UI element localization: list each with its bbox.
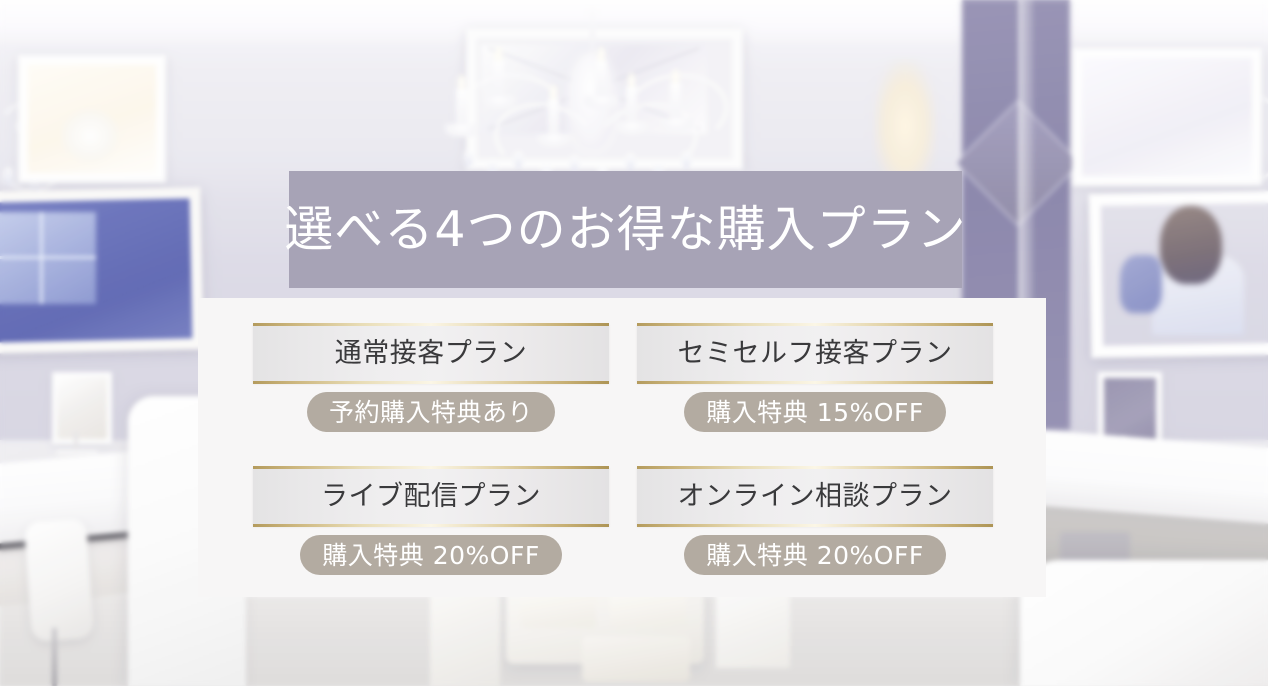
plan-title: セミセルフ接客プラン <box>678 340 953 367</box>
monitor-right-figure-arm <box>1120 255 1162 313</box>
plan-title: オンライン相談プラン <box>678 483 953 510</box>
promo-screen: 選べる4つのお得な購入プラン 通常接客プラン 予約購入特典あり セミセルフ接客プ… <box>0 0 1268 686</box>
chandelier-crystal <box>682 152 691 169</box>
chandelier-crystal <box>626 154 635 171</box>
plan-benefit-badge: 購入特典 20%OFF <box>684 535 945 575</box>
plan-card-semi-self[interactable]: セミセルフ接客プラン 購入特典 15%OFF <box>637 324 993 432</box>
chandelier-flame <box>597 46 606 61</box>
chandelier-cup <box>537 134 571 147</box>
plan-benefit-badge: 予約購入特典あり <box>307 392 555 432</box>
center-chair-left <box>430 588 500 686</box>
plan-badge-row: 購入特典 20%OFF <box>637 535 993 575</box>
plan-badge-row: 購入特典 20%OFF <box>253 535 609 575</box>
chandelier-flame <box>494 46 503 61</box>
plan-card-online-consult[interactable]: オンライン相談プラン 購入特典 20%OFF <box>637 467 993 575</box>
plan-header-semi-self: セミセルフ接客プラン <box>637 324 993 383</box>
center-stool <box>582 636 690 682</box>
chandelier <box>430 0 760 185</box>
chandelier-crystal <box>464 150 473 167</box>
monitor-right-figure-hair <box>1160 206 1222 284</box>
table-mirror-left <box>52 372 112 444</box>
chandelier-flame <box>627 72 636 87</box>
plan-header-live-stream: ライブ配信プラン <box>253 467 609 526</box>
framed-mirror-top-right <box>1072 48 1262 186</box>
plan-badge-row: 購入特典 15%OFF <box>637 392 993 432</box>
chandelier-crystal <box>514 152 523 169</box>
framed-picture-highlight <box>62 110 118 162</box>
plan-benefit-badge: 購入特典 15%OFF <box>684 392 945 432</box>
chandelier-cup <box>659 118 693 131</box>
chandelier-candle <box>493 60 504 100</box>
chandelier-cup <box>585 96 619 109</box>
monitor-left-mullion <box>0 256 96 259</box>
chandelier-rod <box>590 0 595 62</box>
chandelier-candle <box>456 88 467 128</box>
plan-title: 通常接客プラン <box>335 340 528 367</box>
chandelier-candle <box>670 82 681 122</box>
plans-panel: 通常接客プラン 予約購入特典あり セミセルフ接客プラン 購入特典 15%OFF … <box>198 298 1046 597</box>
salon-chair-right <box>1020 560 1268 686</box>
plan-header-online-consult: オンライン相談プラン <box>637 467 993 526</box>
plan-badge-row: 予約購入特典あり <box>253 392 609 432</box>
plan-title: ライブ配信プラン <box>321 483 541 510</box>
headline-text: 選べる4つのお得な購入プラン <box>284 205 966 254</box>
plan-header-standard: 通常接客プラン <box>253 324 609 383</box>
chandelier-candle <box>596 60 607 100</box>
salon-chair-left-leg <box>52 628 57 686</box>
chandelier-cup <box>482 96 516 109</box>
niche-lamp-glow <box>874 60 936 180</box>
chandelier-flame <box>457 74 466 89</box>
chandelier-cup <box>615 122 649 135</box>
chandelier-candle <box>626 86 637 126</box>
plan-benefit-badge: 購入特典 20%OFF <box>300 535 561 575</box>
plans-grid: 通常接客プラン 予約購入特典あり セミセルフ接客プラン 購入特典 15%OFF … <box>253 324 993 575</box>
salon-chair-left <box>24 518 94 642</box>
sconce-crystal <box>4 168 13 185</box>
plan-card-standard[interactable]: 通常接客プラン 予約購入特典あり <box>253 324 609 432</box>
chandelier-flame <box>671 68 680 83</box>
headline-banner: 選べる4つのお得な購入プラン <box>289 171 962 288</box>
plan-card-live-stream[interactable]: ライブ配信プラン 購入特典 20%OFF <box>253 467 609 575</box>
chandelier-candle <box>548 98 559 138</box>
chandelier-cup <box>445 124 479 137</box>
chandelier-flame <box>549 84 558 99</box>
